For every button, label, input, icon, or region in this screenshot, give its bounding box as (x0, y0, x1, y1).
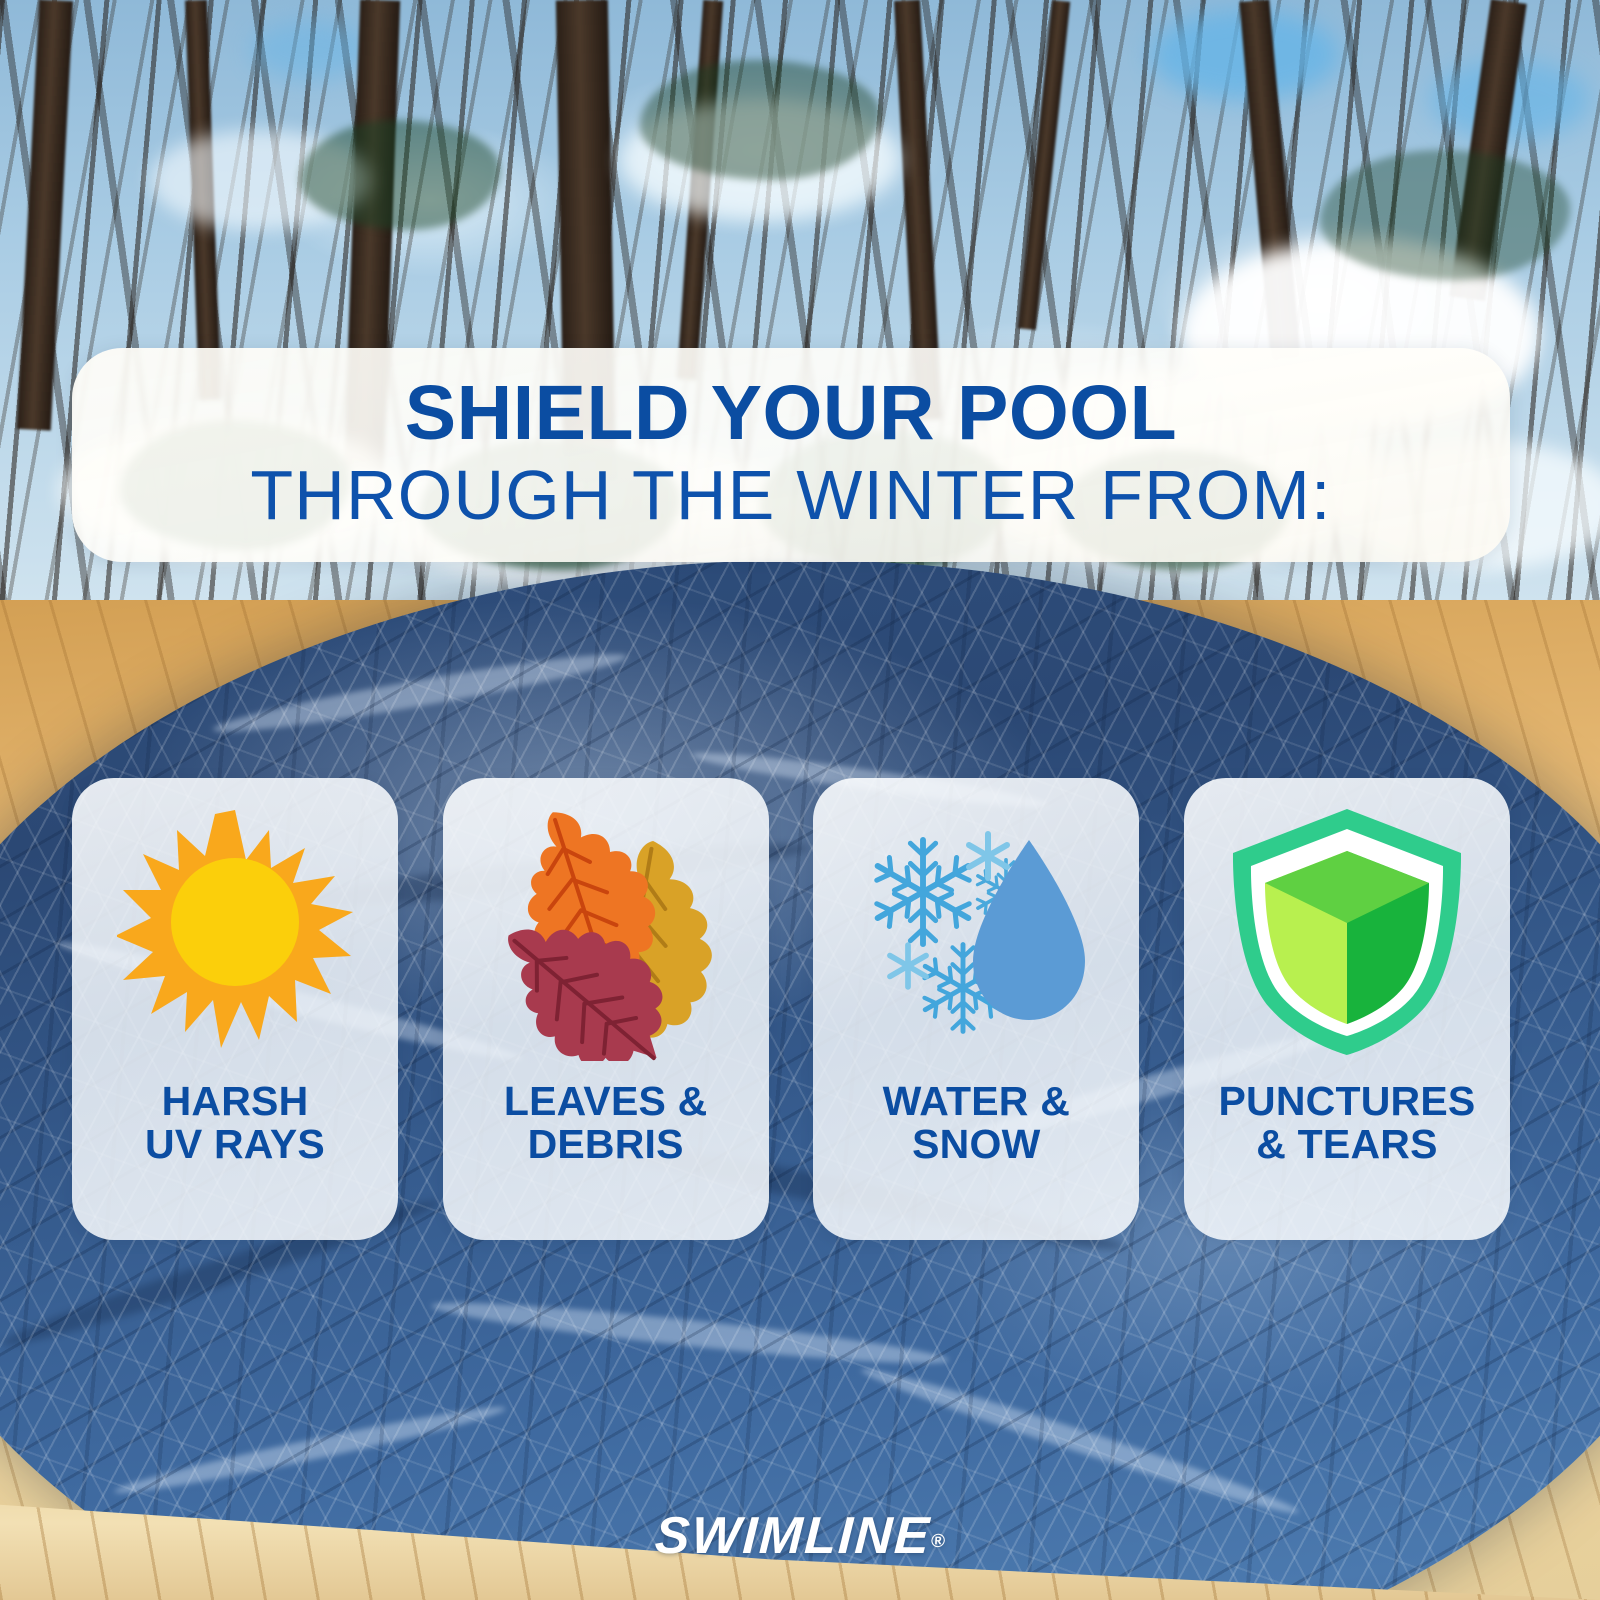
shield-icon (1229, 803, 1465, 1059)
cover-crease (430, 1293, 950, 1373)
cover-crease (858, 1359, 1302, 1522)
feature-card-harsh-uv-rays[interactable]: HARSH UV RAYS (72, 778, 398, 1240)
water-droplet-snowflake-icon (851, 806, 1101, 1056)
evergreen-foliage (300, 120, 500, 230)
card-artwork (813, 778, 1139, 1078)
card-artwork (72, 778, 398, 1078)
brand-name: SWIMLINE (653, 1506, 932, 1566)
evergreen-foliage (640, 60, 880, 180)
sun-icon (117, 806, 353, 1056)
registered-trademark-icon: ® (930, 1531, 945, 1553)
headline-line-2: THROUGH THE WINTER FROM: (250, 458, 1331, 534)
card-label: HARSH UV RAYS (145, 1080, 325, 1167)
headline-line-1: SHIELD YOUR POOL (405, 376, 1177, 451)
feature-card-leaves-debris[interactable]: LEAVES & DEBRIS (443, 778, 769, 1240)
cover-crease (112, 1399, 507, 1502)
cover-crease (211, 644, 629, 743)
card-label: WATER & SNOW (883, 1080, 1070, 1167)
feature-card-row: HARSH UV RAYS L (72, 778, 1510, 1240)
card-label: LEAVES & DEBRIS (504, 1080, 708, 1167)
card-label: PUNCTURES & TEARS (1219, 1080, 1476, 1167)
evergreen-foliage (1320, 150, 1570, 280)
card-artwork (1184, 778, 1510, 1078)
card-artwork (443, 778, 769, 1078)
sky-patch (250, 20, 370, 80)
headline-banner: SHIELD YOUR POOL THROUGH THE WINTER FROM… (72, 348, 1510, 562)
autumn-leaves-icon (486, 801, 726, 1061)
feature-card-punctures-tears[interactable]: PUNCTURES & TEARS (1184, 778, 1510, 1240)
brand-logo: SWIMLINE® (0, 1506, 1600, 1566)
feature-card-water-snow[interactable]: WATER & SNOW (813, 778, 1139, 1240)
